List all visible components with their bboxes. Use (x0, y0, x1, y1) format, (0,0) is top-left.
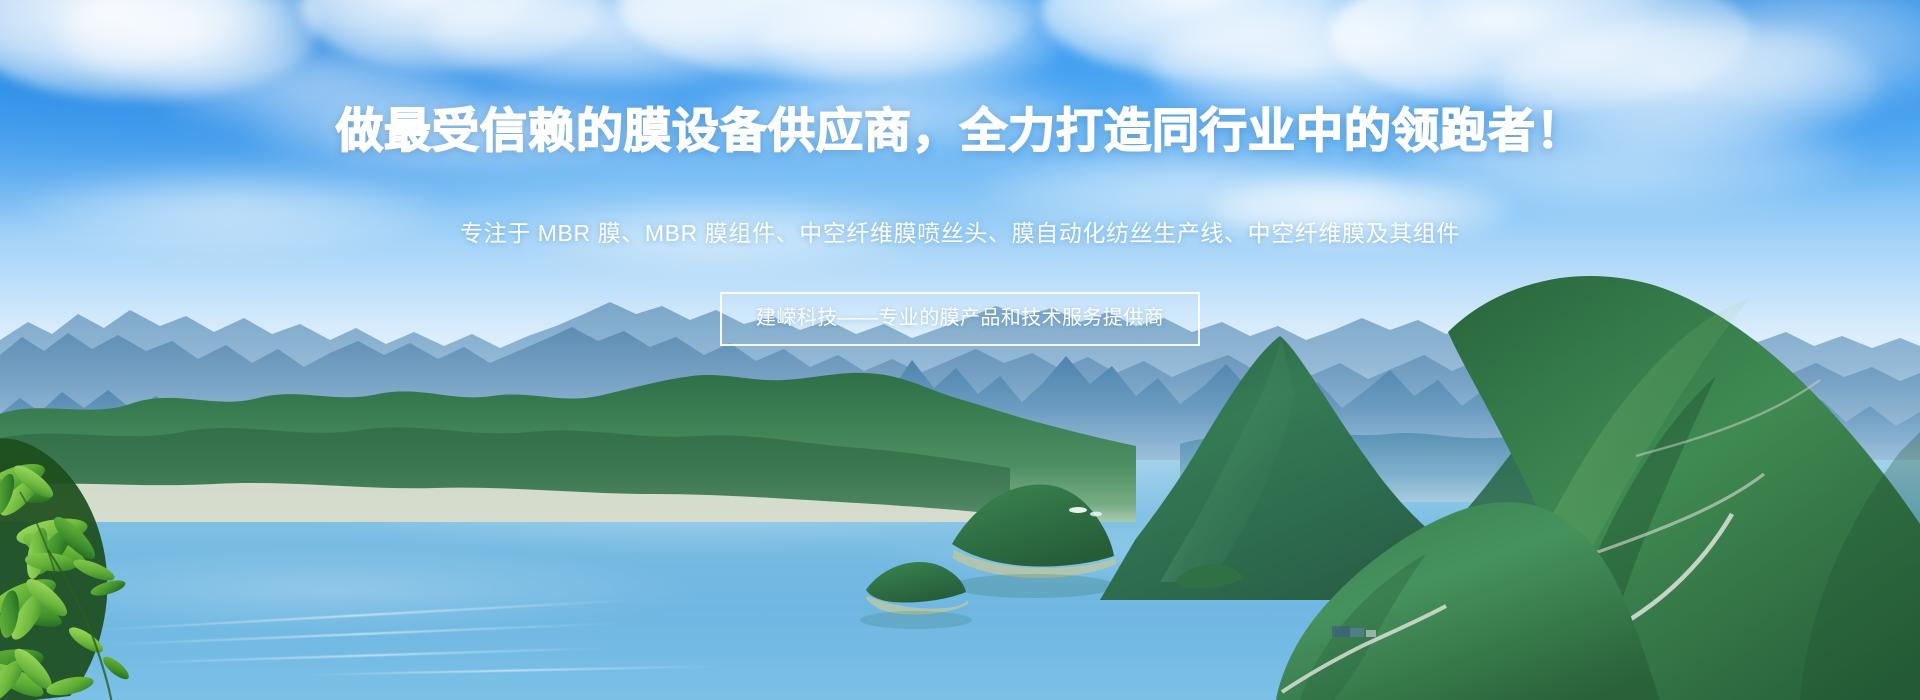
banner-tagline-box: 建嵘科技——专业的膜产品和技术服务提供商 (720, 292, 1200, 346)
banner-subtitle: 专注于 MBR 膜、MBR 膜组件、中空纤维膜喷丝头、膜自动化纺丝生产线、中空纤… (0, 216, 1920, 250)
banner-tagline-wrapper: 建嵘科技——专业的膜产品和技术服务提供商 (0, 292, 1920, 346)
banner-text-overlay: 做最受信赖的膜设备供应商，全力打造同行业中的领跑者！ 专注于 MBR 膜、MBR… (0, 0, 1920, 700)
hero-banner: 做最受信赖的膜设备供应商，全力打造同行业中的领跑者！ 专注于 MBR 膜、MBR… (0, 0, 1920, 700)
banner-headline: 做最受信赖的膜设备供应商，全力打造同行业中的领跑者！ (0, 104, 1920, 160)
